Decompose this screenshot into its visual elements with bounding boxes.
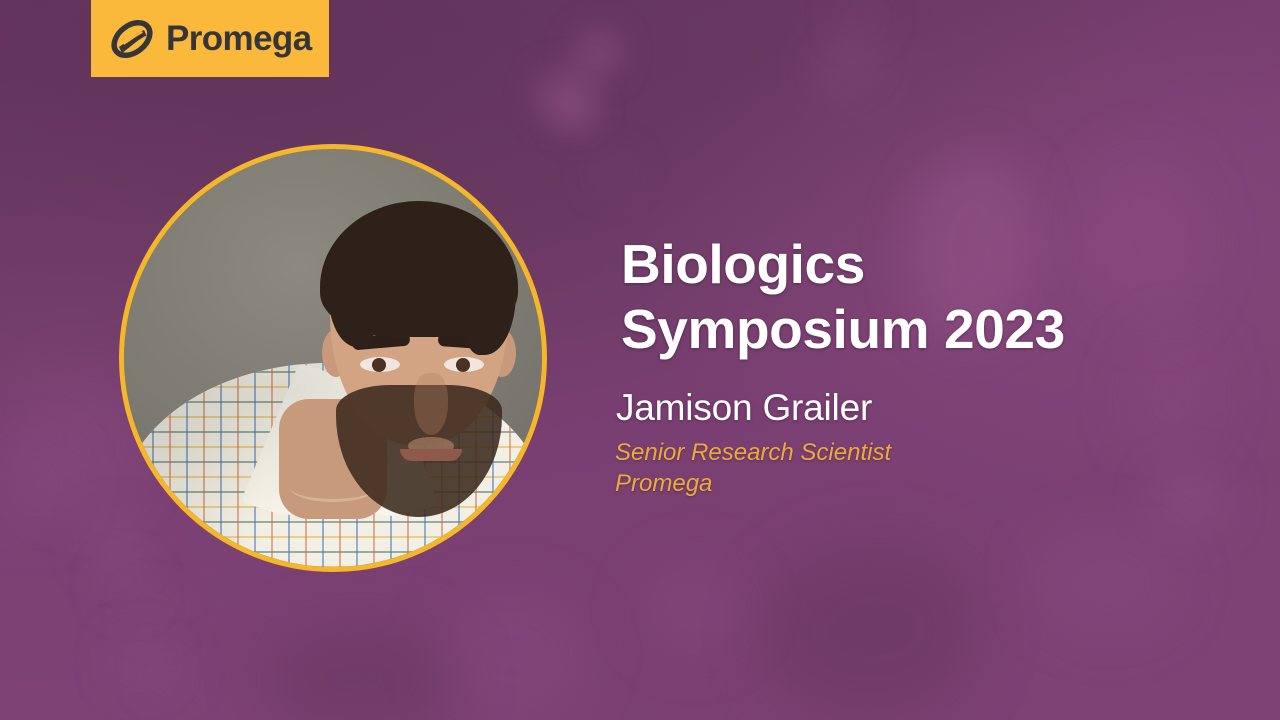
promega-logo-badge: Promega [91,0,329,77]
speaker-organization: Promega [615,469,712,500]
speaker-name: Jamison Grailer [616,388,872,429]
speaker-portrait [119,144,547,572]
eye-right [444,357,484,372]
eye-left [360,357,400,372]
slide-title-line1: Biologics [621,232,1181,297]
mouth [400,449,462,461]
speaker-photo [124,149,542,567]
speaker-role: Senior Research Scientist [615,438,891,469]
nose [414,373,448,435]
slide-title-line2: Symposium 2023 [621,297,1181,362]
promega-infinity-mark [107,14,157,64]
slide-title: Biologics Symposium 2023 [621,232,1181,363]
promega-wordmark: Promega [166,21,312,56]
presentation-slide: Promega B [0,0,1280,720]
